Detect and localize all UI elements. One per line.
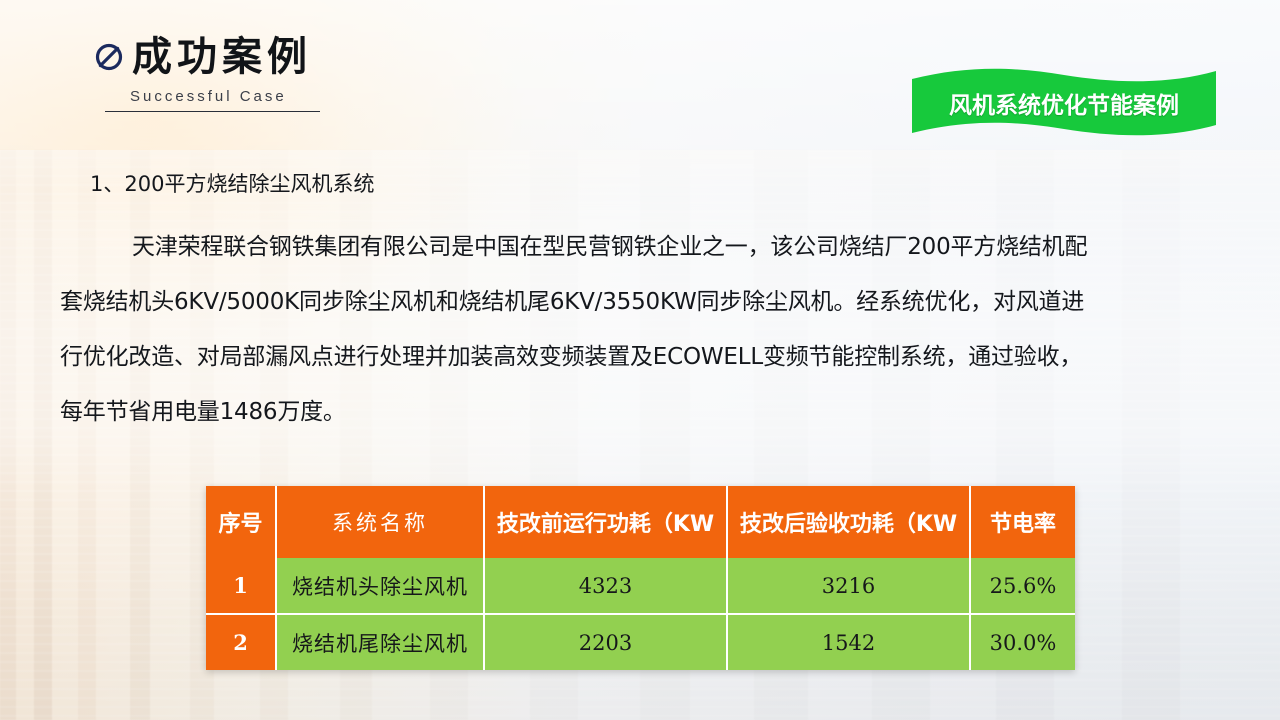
slide-header: 成功案例 Successful Case	[92, 36, 320, 112]
cell-index: 1	[206, 558, 277, 615]
slashed-circle-icon	[92, 40, 126, 74]
paragraph-line-2: 套烧结机头6KV/5000K同步除尘风机和烧结机尾6KV/3550KW同步除尘风…	[60, 275, 1275, 330]
column-header-system-name: 系统名称	[277, 486, 485, 558]
cell-system-name: 烧结机尾除尘风机	[277, 615, 485, 670]
cell-saving-rate: 30.0%	[971, 615, 1075, 670]
table-header-row: 序号 系统名称 技改前运行功耗（KW 技改后验收功耗（KW 节电率	[206, 486, 1075, 558]
table-head: 序号 系统名称 技改前运行功耗（KW 技改后验收功耗（KW 节电率	[206, 486, 1075, 558]
cell-system-name: 烧结机头除尘风机	[277, 558, 485, 615]
section-ribbon-banner: 风机系统优化节能案例	[908, 63, 1220, 143]
title-row: 成功案例	[92, 36, 320, 78]
table-row: 1 烧结机头除尘风机 4323 3216 25.6%	[206, 558, 1075, 615]
body-content: 1、200平方烧结除尘风机系统 天津荣程联合钢铁集团有限公司是中国在型民营钢铁企…	[60, 168, 1275, 440]
table-body: 1 烧结机头除尘风机 4323 3216 25.6% 2 烧结机尾除尘风机 22…	[206, 558, 1075, 670]
paragraph-line-1: 天津荣程联合钢铁集团有限公司是中国在型民营钢铁企业之一，该公司烧结厂200平方烧…	[60, 220, 1275, 275]
results-table-wrapper: 序号 系统名称 技改前运行功耗（KW 技改后验收功耗（KW 节电率	[206, 486, 1075, 670]
title-underline	[105, 111, 320, 112]
page-subtitle: Successful Case	[130, 88, 320, 105]
ribbon-label: 风机系统优化节能案例	[908, 63, 1220, 143]
cell-saving-rate: 25.6%	[971, 558, 1075, 615]
cell-power-before: 4323	[485, 558, 728, 615]
paragraph-line-4: 每年节省用电量1486万度。	[60, 385, 1275, 440]
cell-index: 2	[206, 615, 277, 670]
column-header-saving-rate: 节电率	[971, 486, 1075, 558]
column-header-power-before: 技改前运行功耗（KW	[485, 486, 728, 558]
cell-power-after: 3216	[728, 558, 971, 615]
content-heading: 1、200平方烧结除尘风机系统	[90, 168, 1275, 198]
column-header-power-after: 技改后验收功耗（KW	[728, 486, 971, 558]
table-row: 2 烧结机尾除尘风机 2203 1542 30.0%	[206, 615, 1075, 670]
paragraph-line-3: 行优化改造、对局部漏风点进行处理并加装高效变频装置及ECOWELL变频节能控制系…	[60, 330, 1275, 385]
slide-canvas: 成功案例 Successful Case 风机系统优化节能案例 1、200平方烧…	[0, 0, 1280, 720]
page-title: 成功案例	[132, 36, 312, 78]
column-header-index: 序号	[206, 486, 277, 558]
cell-power-before: 2203	[485, 615, 728, 670]
results-table: 序号 系统名称 技改前运行功耗（KW 技改后验收功耗（KW 节电率	[206, 486, 1075, 670]
cell-power-after: 1542	[728, 615, 971, 670]
